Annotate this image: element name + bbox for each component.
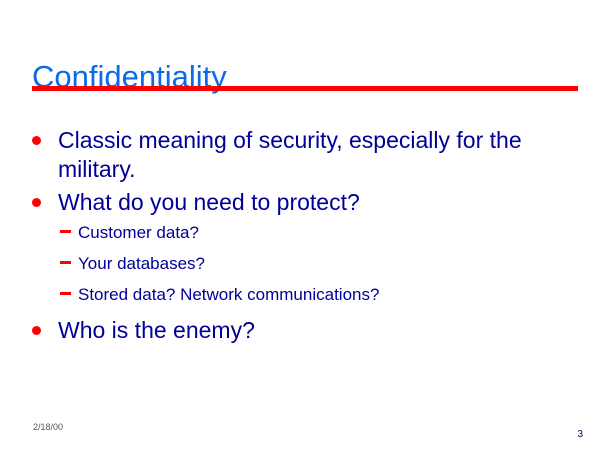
disc-bullet-icon	[32, 188, 58, 207]
dash-bullet-icon	[60, 221, 78, 233]
footer-page-number: 3	[577, 429, 583, 441]
dash-bullet-icon	[60, 283, 78, 295]
presentation-slide: Confidentiality Classic meaning of secur…	[0, 0, 600, 450]
footer-date: 2/18/00	[33, 422, 63, 433]
bullet-item-level1: What do you need to protect?	[32, 188, 572, 217]
bullet-text: Classic meaning of security, especially …	[58, 126, 572, 184]
bullet-item-level2: Your databases?	[60, 252, 572, 275]
disc-bullet-icon	[32, 126, 58, 145]
title-divider-rule	[32, 86, 578, 91]
bullet-text: Customer data?	[78, 221, 572, 244]
bullet-text: What do you need to protect?	[58, 188, 572, 217]
bullet-text: Stored data? Network communications?	[78, 283, 572, 306]
bullet-item-level1: Who is the enemy?	[32, 316, 572, 345]
dash-bullet-icon	[60, 252, 78, 264]
bullet-item-level1: Classic meaning of security, especially …	[32, 126, 572, 184]
disc-bullet-icon	[32, 316, 58, 335]
bullet-text: Your databases?	[78, 252, 572, 275]
bullet-item-level2: Customer data?	[60, 221, 572, 244]
slide-body-content: Classic meaning of security, especially …	[32, 126, 572, 349]
sub-bullet-list: Customer data? Your databases? Stored da…	[32, 221, 572, 306]
bullet-item-level2: Stored data? Network communications?	[60, 283, 572, 306]
bullet-text: Who is the enemy?	[58, 316, 572, 345]
